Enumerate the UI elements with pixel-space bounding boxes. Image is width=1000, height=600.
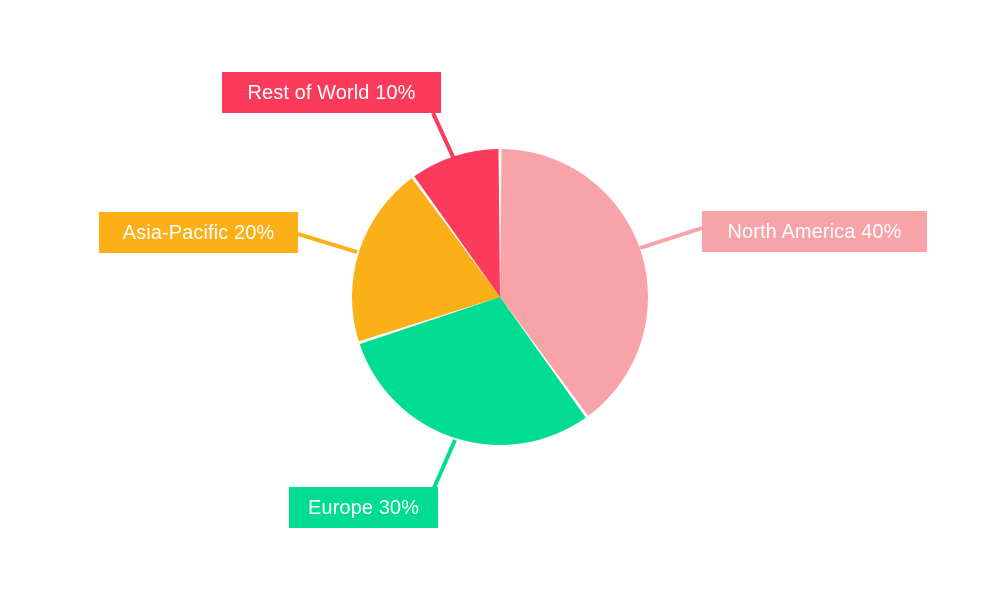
slice-label-rest-of-world[interactable]: Rest of World 10% <box>222 72 441 113</box>
leader-line-europe <box>434 440 455 488</box>
leader-line-asia-pacific <box>298 234 357 252</box>
slice-label-asia-pacific[interactable]: Asia-Pacific 20% <box>99 212 298 253</box>
pie-chart-canvas <box>0 0 1000 600</box>
slice-label-europe[interactable]: Europe 30% <box>289 487 438 528</box>
slice-label-north-america[interactable]: North America 40% <box>702 211 927 252</box>
pie-slices-group <box>352 149 648 445</box>
pie-chart-figure: North America 40%Europe 30%Asia-Pacific … <box>0 0 1000 600</box>
leader-line-north-america <box>640 228 702 248</box>
